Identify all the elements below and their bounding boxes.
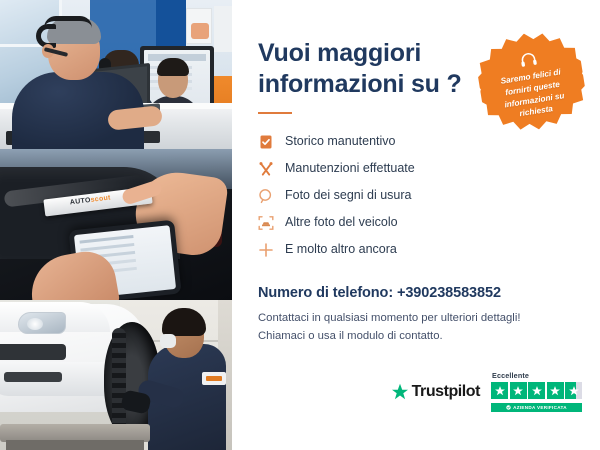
badge-label: Saremo felici di fornirti queste informa… xyxy=(478,63,588,126)
promo-banner: AUTOscout xyxy=(0,0,600,450)
photo-column: AUTOscout xyxy=(0,0,232,450)
status-badge: Saremo felici di fornirti queste informa… xyxy=(473,26,592,145)
trustpilot-rating: Eccellente AZIENDA VERIFICATA xyxy=(491,371,582,412)
list-item-label: E molto altro ancora xyxy=(285,243,397,256)
check-circle-icon xyxy=(506,405,511,410)
contact-line-1: Contattaci in qualsiasi momento per ulte… xyxy=(258,312,520,324)
star-icon xyxy=(528,382,545,399)
content-panel: Vuoi maggiori informazioni su ? Storico … xyxy=(232,0,600,450)
list-item-label: Foto dei segni di usura xyxy=(285,189,411,202)
tools-icon xyxy=(258,161,274,177)
clipboard-check-icon xyxy=(258,134,274,150)
verified-label: AZIENDA VERIFICATA xyxy=(513,405,567,410)
star-rating xyxy=(491,382,582,399)
star-icon xyxy=(510,382,527,399)
workshop-tire-inspection-photo xyxy=(0,300,232,450)
trustpilot-widget[interactable]: Trustpilot Eccellente AZIENDA VERIFICATA xyxy=(391,371,582,412)
list-item[interactable]: Manutenzioni effettuate xyxy=(258,155,580,182)
star-icon xyxy=(491,382,508,399)
list-item[interactable]: Foto dei segni di usura xyxy=(258,182,580,209)
list-item-label: Storico manutentivo xyxy=(285,135,395,148)
list-item[interactable]: E molto altro ancora xyxy=(258,236,580,263)
trustpilot-star-icon xyxy=(391,383,409,401)
headset-icon xyxy=(518,51,537,68)
contact-block: Numero di telefono: +390238583852 Contat… xyxy=(258,285,580,345)
phone-number[interactable]: Numero di telefono: +390238583852 xyxy=(258,285,580,301)
verified-badge: AZIENDA VERIFICATA xyxy=(491,403,582,412)
car-scan-icon xyxy=(258,215,274,231)
contact-instructions: Contattaci in qualsiasi momento per ulte… xyxy=(258,310,580,345)
contact-line-2: Chiamaci o usa il modulo di contatto. xyxy=(258,330,443,342)
title-divider xyxy=(258,112,292,114)
star-icon xyxy=(547,382,564,399)
list-item[interactable]: Altre foto del veicolo xyxy=(258,209,580,236)
plus-icon xyxy=(258,242,274,258)
list-item-label: Altre foto del veicolo xyxy=(285,216,398,229)
star-icon-partial xyxy=(565,382,582,399)
list-item-label: Manutenzioni effettuate xyxy=(285,162,415,175)
feature-list: Storico manutentivo Manutenzioni effettu… xyxy=(258,128,580,263)
page-title: Vuoi maggiori informazioni su ? xyxy=(258,38,468,100)
list-item[interactable]: Storico manutentivo xyxy=(258,128,580,155)
rating-label: Eccellente xyxy=(492,371,529,380)
trustpilot-logo: Trustpilot xyxy=(391,383,480,401)
vehicle-body-inspection-photo: AUTOscout xyxy=(0,149,232,300)
magnifier-icon xyxy=(258,188,274,204)
trustpilot-wordmark: Trustpilot xyxy=(412,383,480,401)
call-center-agents-photo xyxy=(0,0,232,149)
